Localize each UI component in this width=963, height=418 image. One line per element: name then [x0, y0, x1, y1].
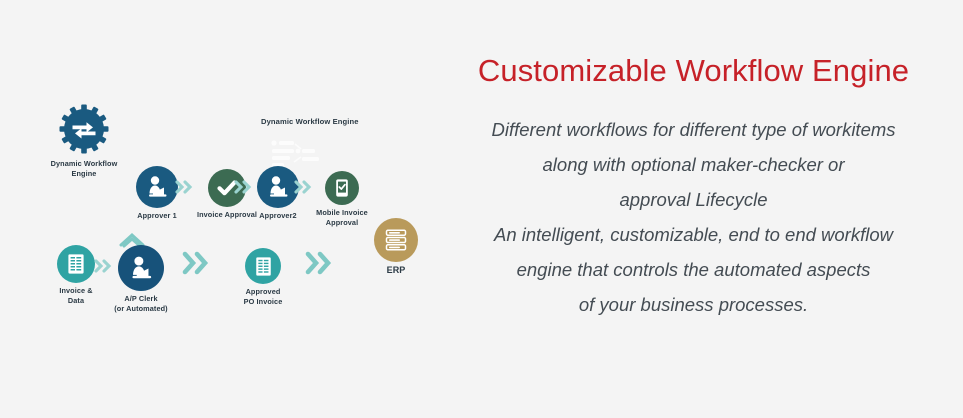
node-dynamic-workflow-engine: Dynamic Workflow Engine	[44, 102, 124, 178]
node-label-line2: PO Invoice	[244, 297, 283, 306]
node-invoice-and-data: Invoice & Data	[49, 245, 103, 305]
node-label: Invoice Approval	[196, 210, 258, 220]
node-label: Approver 1	[131, 211, 183, 221]
page-title: Customizable Workflow Engine	[436, 52, 951, 90]
person-laptop-icon	[118, 245, 164, 291]
node-label-line1: Mobile Invoice	[316, 208, 368, 217]
node-label-line2: Engine	[72, 169, 97, 178]
hero-banner: Dynamic Workflow Engine Dynamic Workflow…	[0, 0, 963, 418]
node-label: Approved PO Invoice	[233, 287, 293, 306]
node-mobile-invoice-approval: Mobile Invoice Approval	[311, 171, 373, 227]
node-label-line2: (or Automated)	[114, 304, 167, 313]
description-line: of your business processes.	[436, 287, 951, 322]
node-label: ERP	[371, 266, 421, 276]
diagram-engine-title: Dynamic Workflow Engine	[261, 117, 359, 126]
node-label-line1: Approved	[246, 287, 281, 296]
node-label: Dynamic Workflow Engine	[44, 159, 124, 178]
node-label-line2: Approval	[326, 218, 358, 227]
description-line: An intelligent, customizable, end to end…	[436, 217, 951, 252]
node-label-line1: A/P Clerk	[124, 294, 157, 303]
node-label: Approver2	[252, 211, 304, 221]
description-line: along with optional maker-checker or	[436, 147, 951, 182]
description-line: approval Lifecycle	[436, 182, 951, 217]
node-label-line1: Invoice &	[59, 286, 92, 295]
workflow-diagram: Dynamic Workflow Engine Dynamic Workflow…	[0, 0, 450, 418]
hero-description: Different workflows for different type o…	[436, 112, 951, 322]
chevron-arrow-large-2	[303, 248, 337, 278]
node-label-line1: Dynamic Workflow	[51, 159, 118, 168]
node-ap-clerk: A/P Clerk (or Automated)	[108, 245, 174, 313]
description-line: engine that controls the automated aspec…	[436, 252, 951, 287]
gear-exchange-icon	[57, 102, 111, 156]
document-icon	[245, 248, 281, 284]
description-line: Different workflows for different type o…	[436, 112, 951, 147]
document-icon	[57, 245, 95, 283]
node-label: Invoice & Data	[49, 286, 103, 305]
node-label: A/P Clerk (or Automated)	[108, 294, 174, 313]
node-approved-po-invoice: Approved PO Invoice	[233, 248, 293, 306]
server-stack-icon	[374, 218, 418, 262]
node-label: Mobile Invoice Approval	[311, 208, 373, 227]
person-laptop-icon	[136, 166, 178, 208]
hero-copy: Customizable Workflow Engine Different w…	[436, 52, 951, 322]
node-label-line2: Data	[68, 296, 84, 305]
node-erp: ERP	[371, 218, 421, 276]
chevron-arrow-large-1	[180, 248, 214, 278]
mobile-check-icon	[325, 171, 359, 205]
chevron-arrow-small-1	[174, 178, 196, 196]
